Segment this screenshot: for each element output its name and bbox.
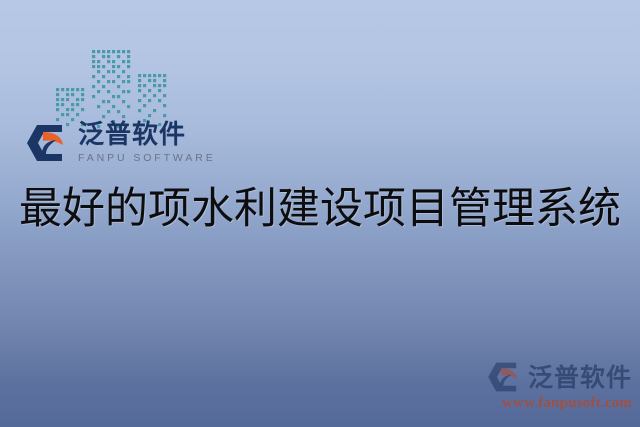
pixel-skyline-icon bbox=[54, 44, 170, 132]
watermark-name-cn: 泛普软件 bbox=[528, 365, 632, 390]
watermark-url: www.fanpusoft.com bbox=[452, 395, 632, 412]
brand-lockup: 泛普软件 FANPU SOFTWARE bbox=[26, 122, 216, 164]
brand-name-en: FANPU SOFTWARE bbox=[78, 152, 216, 164]
fanpu-logo-mark-icon bbox=[26, 123, 70, 163]
promo-banner: 泛普软件 FANPU SOFTWARE 最好的项水利建设项目管理系统 泛普软件 … bbox=[0, 0, 640, 427]
page-title: 最好的项水利建设项目管理系统 bbox=[0, 186, 640, 232]
fanpu-logo-mark-icon bbox=[487, 361, 523, 393]
brand-name-cn: 泛普软件 bbox=[78, 122, 216, 149]
watermark-logo-row: 泛普软件 bbox=[452, 361, 632, 393]
watermark: 泛普软件 www.fanpusoft.com bbox=[452, 361, 632, 419]
